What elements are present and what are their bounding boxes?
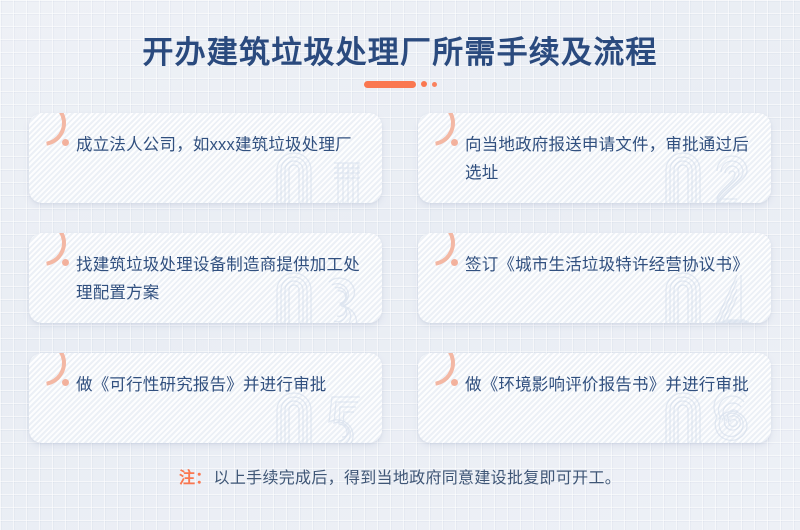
step-card-text: 签订《城市生活垃圾特许经营协议书》: [465, 251, 757, 279]
divider-dot-2: [432, 82, 437, 87]
divider-bar: [364, 81, 416, 88]
step-card-grid: 成立法人公司，如xxx建筑垃圾处理厂: [29, 113, 771, 443]
divider-dot-1: [421, 81, 427, 87]
arc-decoration-icon: [418, 113, 464, 155]
step-card-text: 做《环境影响评价报告书》并进行审批: [465, 371, 757, 399]
arc-dot-icon: [62, 379, 69, 386]
footer-note: 注：以上手续完成后，得到当地政府同意建设批复即可开工。: [0, 467, 800, 491]
arc-dot-icon: [62, 139, 69, 146]
arc-decoration-icon: [29, 353, 75, 395]
step-card[interactable]: 成立法人公司，如xxx建筑垃圾处理厂: [29, 113, 382, 203]
step-card[interactable]: 做《可行性研究报告》并进行审批: [29, 353, 382, 443]
arc-dot-icon: [62, 259, 69, 266]
step-card[interactable]: 签订《城市生活垃圾特许经营协议书》: [418, 233, 771, 323]
step-card[interactable]: 做《环境影响评价报告书》并进行审批: [418, 353, 771, 443]
arc-dot-icon: [451, 139, 458, 146]
step-card-text: 成立法人公司，如xxx建筑垃圾处理厂: [76, 131, 368, 159]
arc-decoration-icon: [418, 353, 464, 395]
footer-note-label: 注：: [179, 470, 212, 487]
step-card-text: 做《可行性研究报告》并进行审批: [76, 371, 368, 399]
arc-decoration-icon: [29, 233, 75, 275]
arc-decoration-icon: [418, 233, 464, 275]
step-card-text: 向当地政府报送申请文件，审批通过后选址: [465, 131, 757, 187]
infographic-page: 开办建筑垃圾处理厂所需手续及流程: [0, 0, 800, 530]
step-card[interactable]: 找建筑垃圾处理设备制造商提供加工处理配置方案: [29, 233, 382, 323]
arc-dot-icon: [451, 259, 458, 266]
page-title: 开办建筑垃圾处理厂所需手续及流程: [0, 27, 800, 72]
footer-note-text: 以上手续完成后，得到当地政府同意建设批复即可开工。: [214, 470, 622, 487]
step-card-text: 找建筑垃圾处理设备制造商提供加工处理配置方案: [76, 251, 368, 307]
step-card[interactable]: 向当地政府报送申请文件，审批通过后选址: [418, 113, 771, 203]
arc-decoration-icon: [29, 113, 75, 155]
arc-dot-icon: [451, 379, 458, 386]
header: 开办建筑垃圾处理厂所需手续及流程: [0, 0, 800, 103]
title-divider-icon: [0, 79, 800, 89]
